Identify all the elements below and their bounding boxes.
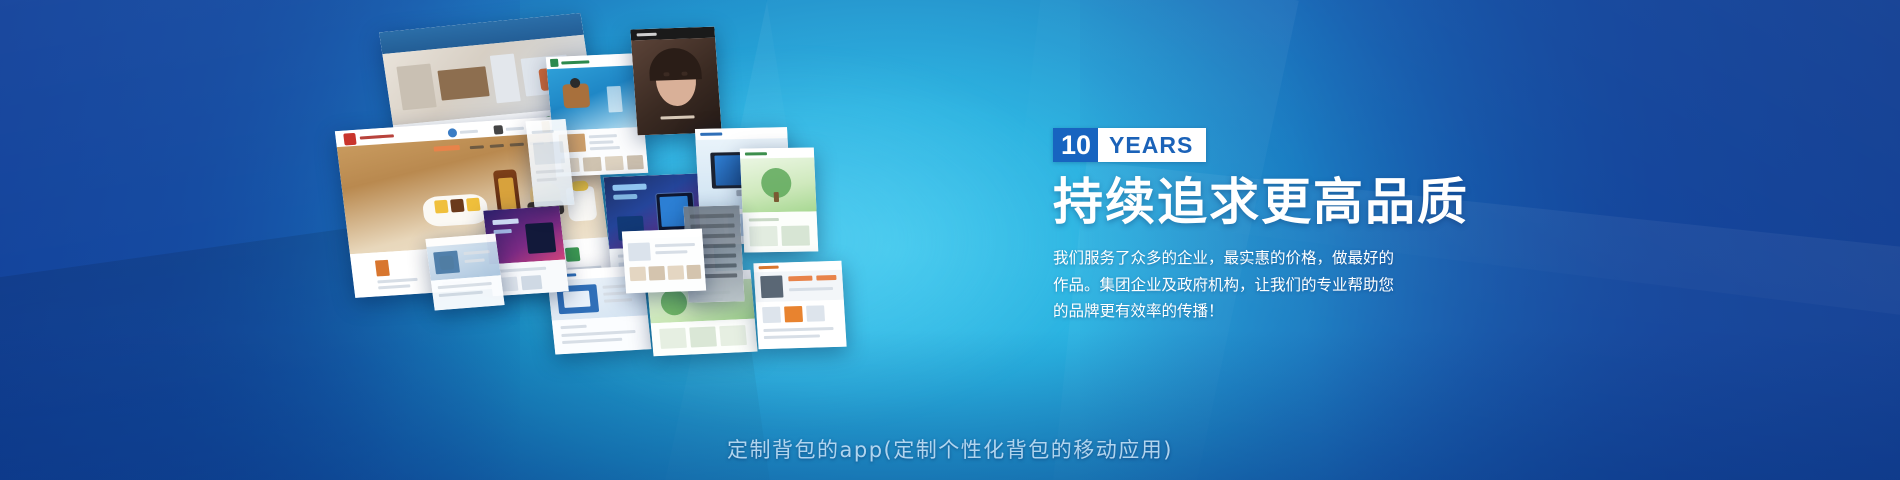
collage-item-catalog-site[interactable] xyxy=(622,229,706,294)
promo-description: 我们服务了众多的企业，最实惠的价格，做最好的作品。集团企业及政府机构，让我们的专… xyxy=(1053,245,1405,325)
banner-caption: 定制背包的app(定制个性化背包的移动应用) xyxy=(0,434,1900,464)
collage-item-electronics-shop[interactable] xyxy=(753,261,846,349)
collage-item-eco-green-site[interactable] xyxy=(740,147,819,252)
badge-unit: YEARS xyxy=(1098,128,1206,162)
collage-item-beauty-portrait-site[interactable] xyxy=(630,27,721,136)
badge-number: 10 xyxy=(1053,128,1098,162)
promo-banner: 定制背包的app(定制个性化背包的移动应用) 10 YEARS 持续追求更高品质… xyxy=(0,0,1900,480)
promo-headline: 持续追求更高品质 xyxy=(1053,175,1493,229)
anniversary-badge: 10 YEARS xyxy=(1053,128,1206,162)
website-collage xyxy=(0,0,900,480)
collage-item-corporate-site[interactable] xyxy=(425,234,504,311)
promo-content: 10 YEARS 持续追求更高品质 我们服务了众多的企业，最实惠的价格，做最好的… xyxy=(1053,128,1493,325)
